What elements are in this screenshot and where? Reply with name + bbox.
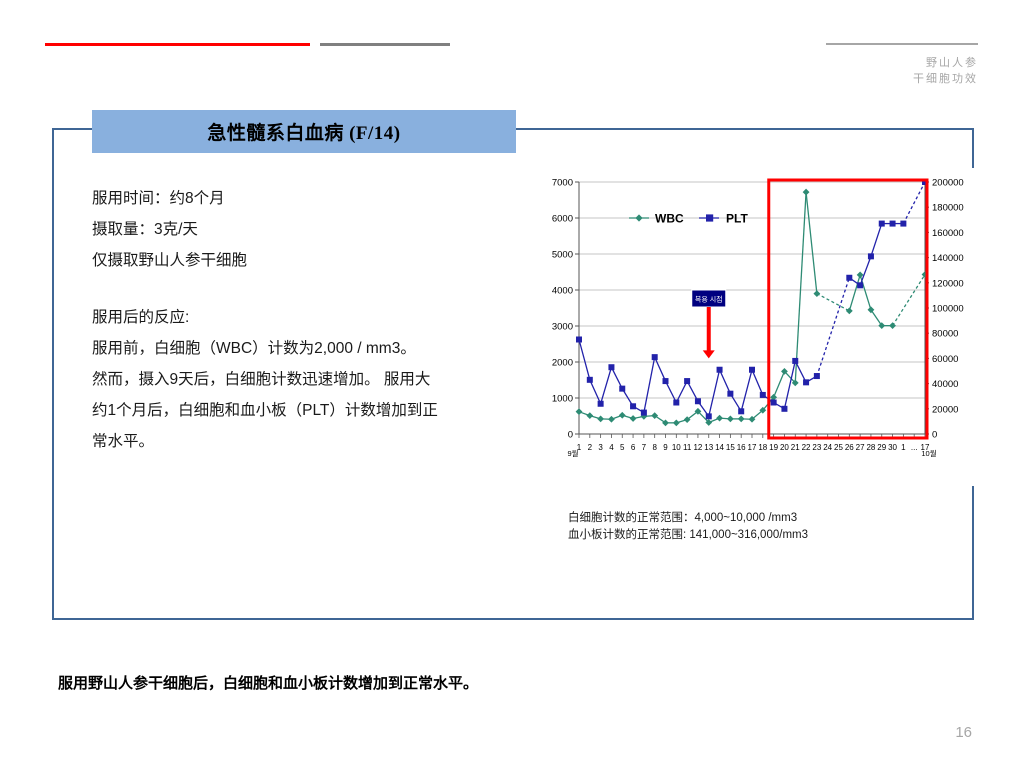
y-tick-label-left: 3000 bbox=[552, 322, 573, 333]
x-tick-label: 5 bbox=[620, 443, 625, 452]
y-tick-label-right: 160000 bbox=[932, 228, 964, 239]
x-tick-label: 29 bbox=[877, 443, 886, 452]
series-marker-plt bbox=[619, 386, 625, 392]
y-tick-label-left: 0 bbox=[568, 430, 573, 441]
series-marker-plt bbox=[792, 358, 798, 364]
y-tick-label-right: 100000 bbox=[932, 304, 964, 315]
y-tick-label-left: 5000 bbox=[552, 250, 573, 261]
series-marker-plt bbox=[771, 400, 777, 406]
x-tick-label: 17 bbox=[748, 443, 757, 452]
header-rule-right bbox=[826, 43, 978, 45]
brand-line-2: 干细胞功效 bbox=[913, 71, 978, 87]
series-marker-plt bbox=[663, 378, 669, 384]
y-tick-label-left: 2000 bbox=[552, 358, 573, 369]
normal-range-wbc: 白细胞计数的正常范围：4,000~10,000 /mm3 bbox=[568, 510, 968, 527]
x-tick-label: 20 bbox=[780, 443, 789, 452]
y-tick-label-right: 140000 bbox=[932, 253, 964, 264]
x-tick-label: 28 bbox=[866, 443, 875, 452]
page-title: 急性髓系白血病 (F/14) bbox=[207, 118, 400, 145]
series-marker-plt bbox=[684, 378, 690, 384]
series-marker-plt bbox=[630, 403, 636, 409]
series-marker-plt bbox=[576, 337, 582, 343]
y-tick-label-right: 40000 bbox=[932, 379, 958, 390]
series-marker-plt bbox=[803, 379, 809, 385]
y-tick-label-left: 7000 bbox=[552, 178, 573, 189]
series-marker-plt bbox=[717, 367, 723, 373]
x-tick-label: 13 bbox=[704, 443, 713, 452]
series-marker-plt bbox=[890, 221, 896, 227]
series-marker-plt bbox=[608, 364, 614, 370]
series-marker-plt bbox=[868, 253, 874, 259]
y-tick-label-right: 20000 bbox=[932, 404, 958, 415]
description-line-1: 服用时间：约8个月 bbox=[92, 183, 532, 214]
legend-label-plt: PLT bbox=[726, 212, 748, 226]
x-tick-label: ... bbox=[911, 443, 918, 452]
series-marker-plt bbox=[695, 398, 701, 404]
case-description: 服用时间：约8个月 摄取量：3克/天 仅摄取野山人参干细胞 服用后的反应: 服用… bbox=[92, 183, 532, 457]
x-tick-label: 2 bbox=[588, 443, 593, 452]
x-tick-label: 4 bbox=[609, 443, 614, 452]
x-tick-label: 10 bbox=[672, 443, 681, 452]
series-marker-plt bbox=[598, 401, 604, 407]
x-tick-label: 21 bbox=[791, 443, 800, 452]
normal-range-plt: 血小板计数的正常范围: 141,000~316,000/mm3 bbox=[568, 527, 968, 544]
y-tick-label-right: 80000 bbox=[932, 329, 958, 340]
series-marker-plt bbox=[814, 373, 820, 379]
x-tick-label: 11 bbox=[683, 443, 692, 452]
y-tick-label-left: 1000 bbox=[552, 394, 573, 405]
series-marker-plt bbox=[587, 377, 593, 383]
x-axis-month-end: 10월 bbox=[921, 448, 936, 458]
x-tick-label: 23 bbox=[812, 443, 821, 452]
x-tick-label: 15 bbox=[726, 443, 735, 452]
y-tick-label-right: 120000 bbox=[932, 278, 964, 289]
series-marker-plt bbox=[727, 391, 733, 397]
x-tick-label: 6 bbox=[631, 443, 636, 452]
brand-header: 野山人参 干细胞功效 bbox=[913, 55, 978, 87]
y-tick-label-left: 4000 bbox=[552, 286, 573, 297]
x-tick-label: 18 bbox=[758, 443, 767, 452]
series-marker-plt bbox=[749, 367, 755, 373]
series-marker-plt bbox=[652, 354, 658, 360]
x-tick-label: 7 bbox=[642, 443, 647, 452]
series-marker-plt bbox=[706, 413, 712, 419]
normal-range-note: 白细胞计数的正常范围：4,000~10,000 /mm3 血小板计数的正常范围:… bbox=[568, 510, 968, 544]
description-line-2: 摄取量：3克/天 bbox=[92, 214, 532, 245]
x-tick-label: 8 bbox=[652, 443, 657, 452]
series-marker-plt bbox=[857, 282, 863, 288]
brand-line-1: 野山人参 bbox=[913, 55, 978, 71]
y-tick-label-right: 180000 bbox=[932, 203, 964, 214]
legend-label-wbc: WBC bbox=[655, 212, 684, 226]
y-tick-label-right: 200000 bbox=[932, 178, 964, 189]
x-tick-label: 16 bbox=[737, 443, 746, 452]
description-line-5: 服用前，白细胞（WBC）计数为2,000 / mm3。 bbox=[92, 333, 532, 364]
conclusion-text: 服用野山人参干细胞后，白细胞和血小板计数增加到正常水平。 bbox=[58, 672, 818, 693]
legend-marker-plt bbox=[706, 214, 713, 221]
x-tick-label: 14 bbox=[715, 443, 724, 452]
series-marker-plt bbox=[673, 400, 679, 406]
chart-svg: 0100020003000400050006000700002000040000… bbox=[533, 168, 975, 486]
series-marker-plt bbox=[846, 275, 852, 281]
plot-background bbox=[579, 182, 925, 434]
x-tick-label: 1 bbox=[901, 443, 906, 452]
series-marker-plt bbox=[900, 221, 906, 227]
series-marker-plt bbox=[641, 410, 647, 416]
x-tick-label: 30 bbox=[888, 443, 897, 452]
x-tick-label: 24 bbox=[823, 443, 832, 452]
y-tick-label-right: 0 bbox=[932, 430, 937, 441]
x-tick-label: 3 bbox=[598, 443, 603, 452]
x-tick-label: 22 bbox=[802, 443, 811, 452]
y-tick-label-left: 6000 bbox=[552, 214, 573, 225]
x-tick-label: 25 bbox=[834, 443, 843, 452]
series-marker-plt bbox=[879, 221, 885, 227]
y-tick-label-right: 60000 bbox=[932, 354, 958, 365]
description-line-4: 服用后的反应: bbox=[92, 302, 532, 333]
x-tick-label: 19 bbox=[769, 443, 778, 452]
x-tick-label: 9 bbox=[663, 443, 668, 452]
blood-count-chart: 0100020003000400050006000700002000040000… bbox=[533, 168, 975, 486]
slide-title-banner: 急性髓系白血病 (F/14) bbox=[92, 110, 516, 153]
description-line-8: 常水平。 bbox=[92, 426, 532, 457]
x-axis-month-start: 9월 bbox=[567, 448, 578, 458]
description-line-6: 然而，摄入9天后，白细胞计数迅速增加。 服用大 bbox=[92, 364, 532, 395]
x-tick-label: 12 bbox=[693, 443, 702, 452]
x-tick-label: 27 bbox=[856, 443, 865, 452]
top-accent-rule-gray bbox=[320, 43, 450, 46]
description-line-7: 约1个月后，白细胞和血小板（PLT）计数增加到正 bbox=[92, 395, 532, 426]
series-marker-plt bbox=[738, 408, 744, 414]
dosing-start-label-text: 복용 시점 bbox=[695, 296, 723, 304]
series-marker-plt bbox=[781, 406, 787, 412]
x-tick-label: 26 bbox=[845, 443, 854, 452]
top-accent-rule-red bbox=[45, 43, 310, 46]
description-spacer bbox=[92, 276, 532, 302]
description-line-3: 仅摄取野山人参干细胞 bbox=[92, 245, 532, 276]
series-marker-plt bbox=[760, 392, 766, 398]
page-number: 16 bbox=[955, 724, 972, 741]
